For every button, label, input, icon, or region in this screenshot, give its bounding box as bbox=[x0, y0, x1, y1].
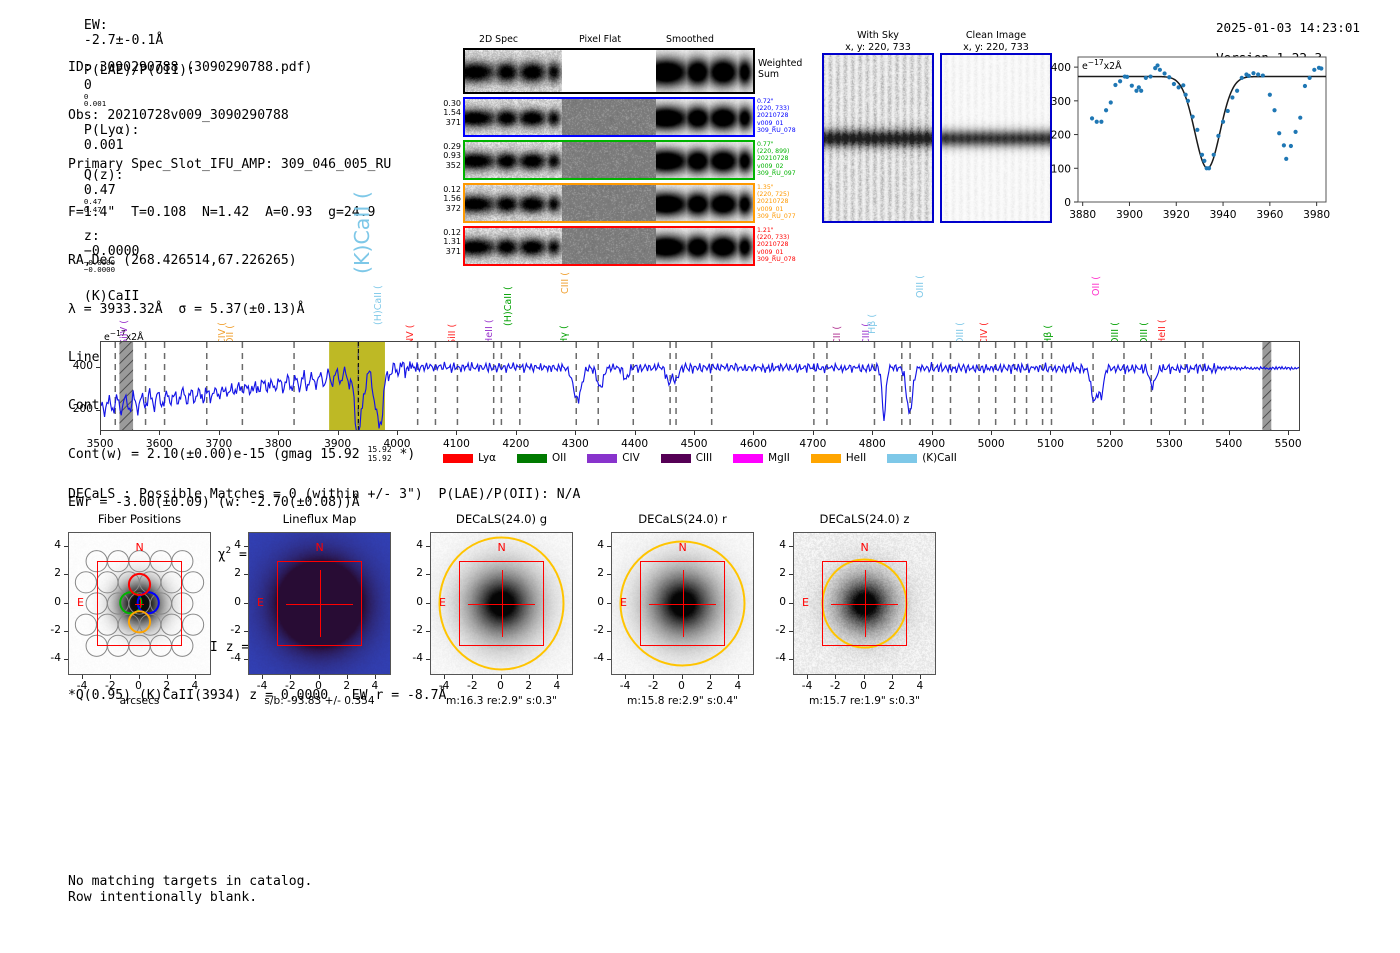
decals-header: DECaLS : Possible Matches = 0 (within +/… bbox=[68, 487, 580, 502]
legend-label: CIV bbox=[622, 452, 639, 464]
panel-xtick-label: 2 bbox=[154, 680, 180, 692]
spectrum-xtick bbox=[1050, 431, 1051, 435]
spectrum-xtick bbox=[397, 431, 398, 435]
panel-ytick bbox=[64, 659, 68, 660]
panel-ytick-label: -4 bbox=[40, 652, 61, 664]
spectral-line-label: Hβ ( bbox=[1043, 287, 1054, 345]
spec2d-cell-smoothed bbox=[656, 228, 753, 264]
panel-ytick bbox=[607, 574, 611, 575]
panel-xtick-label: -4 bbox=[249, 680, 275, 692]
svg-text:3900: 3900 bbox=[1116, 209, 1143, 221]
info-id: ID: 3090290788 (3090290788.pdf) bbox=[68, 60, 446, 76]
panel-xtick bbox=[920, 675, 921, 679]
spectral-line-label: (H)CaII ( bbox=[373, 267, 384, 325]
legend-swatch bbox=[517, 454, 547, 463]
panel-ytick-label: 4 bbox=[40, 539, 61, 551]
spectrum-xtick-label: 5400 bbox=[1211, 438, 1247, 450]
spec2d-block: 2D Spec Pixel Flat Smoothed Weighted Sum… bbox=[463, 34, 755, 266]
spectrum-xtick-label: 5200 bbox=[1092, 438, 1128, 450]
spectrum-xtick-label: 4900 bbox=[914, 438, 950, 450]
legend-label: MgII bbox=[768, 452, 790, 464]
spectrum-legend: LyαOIICIVCIIIMgIIHeII(K)CaII bbox=[0, 452, 1400, 464]
spec2d-row-metrics: 0.121.56372 bbox=[421, 185, 461, 213]
spectral-line-label: Hβ ( bbox=[867, 276, 878, 334]
panel-xtick-label: 0 bbox=[851, 680, 877, 692]
weighted-sum-label: Weighted Sum bbox=[758, 58, 802, 80]
spectrum-xtick bbox=[1169, 431, 1170, 435]
panel-xtick bbox=[139, 675, 140, 679]
panel-ytick bbox=[64, 546, 68, 547]
north-marker: N bbox=[136, 541, 144, 554]
svg-text:3920: 3920 bbox=[1163, 209, 1190, 221]
crosshair-horizontal bbox=[831, 604, 899, 605]
panel-xtick-label: -4 bbox=[794, 680, 820, 692]
panel-ytick bbox=[64, 603, 68, 604]
with-sky-title: With Sky bbox=[822, 30, 934, 42]
panel-xtick-label: 2 bbox=[516, 680, 542, 692]
crosshair-horizontal bbox=[649, 604, 717, 605]
with-sky-coords: x, y: 220, 733 bbox=[822, 42, 934, 54]
panel-ytick bbox=[244, 574, 248, 575]
spectrum-xtick bbox=[278, 431, 279, 435]
panel-xtick bbox=[892, 675, 893, 679]
panel-ytick-label: -2 bbox=[220, 624, 241, 636]
spectrum-xtick bbox=[456, 431, 457, 435]
panel-xtick-label: 4 bbox=[362, 680, 388, 692]
info-obs: Obs: 20210728v009_3090290788 bbox=[68, 108, 446, 124]
spectrum-xtick bbox=[932, 431, 933, 435]
spectrum-xtick bbox=[753, 431, 754, 435]
spectrum-xtick-label: 5500 bbox=[1270, 438, 1306, 450]
panel-ytick-label: 2 bbox=[220, 567, 241, 579]
spec2d-row-meta: 1.21"(220, 733)20210728v009_01309_RU_078 bbox=[757, 227, 813, 263]
panel-ytick bbox=[244, 659, 248, 660]
panel-ytick-label: 2 bbox=[583, 567, 604, 579]
bottom-note: No matching targets in catalog. Row inte… bbox=[68, 874, 312, 906]
svg-text:100: 100 bbox=[1051, 163, 1071, 175]
crosshair-horizontal bbox=[286, 604, 354, 605]
spec2d-cell-2d bbox=[465, 142, 562, 178]
legend-item: HeII bbox=[811, 452, 866, 464]
decals-panel-title: Lineflux Map bbox=[248, 512, 391, 526]
line-profile-chart: 3880390039203940396039801002003004000e−1… bbox=[1034, 47, 1334, 232]
decals-panel-title: Fiber Positions bbox=[68, 512, 211, 526]
panel-ytick bbox=[789, 659, 793, 660]
spec2d-row-metrics: 0.121.31371 bbox=[421, 228, 461, 256]
panel-ytick bbox=[426, 603, 430, 604]
spec2d-cell-flat bbox=[562, 142, 657, 178]
spec2d-cell-smoothed bbox=[656, 185, 753, 221]
panel-ytick bbox=[789, 631, 793, 632]
spectral-line-label: HeII ( bbox=[1157, 287, 1168, 345]
decals-panel: DECaLS(24.0) gNE-4-4-2-2002244m:16.3 re:… bbox=[430, 532, 573, 675]
panel-xtick-label: -4 bbox=[612, 680, 638, 692]
panel-ytick-label: 0 bbox=[220, 596, 241, 608]
panel-ytick bbox=[426, 546, 430, 547]
panel-xtick-label: 0 bbox=[126, 680, 152, 692]
spec2d-cell-flat bbox=[562, 50, 657, 92]
panel-ytick-label: -4 bbox=[583, 652, 604, 664]
spectrum-xtick bbox=[575, 431, 576, 435]
panel-ytick-label: -4 bbox=[765, 652, 786, 664]
svg-text:0: 0 bbox=[1064, 197, 1071, 209]
spectrum-ytick-label: 400 bbox=[62, 360, 93, 372]
decals-panel: DECaLS(24.0) rNE-4-4-2-2002244m:15.8 re:… bbox=[611, 532, 754, 675]
profile-unit-label: e−17x2Å bbox=[1082, 58, 1122, 72]
panel-ytick-label: 4 bbox=[765, 539, 786, 551]
spec2d-row-metrics: 0.301.54371 bbox=[421, 99, 461, 127]
legend-label: Lyα bbox=[478, 452, 496, 464]
svg-text:300: 300 bbox=[1051, 96, 1071, 108]
with-sky-panel: With Sky x, y: 220, 733 bbox=[822, 30, 934, 223]
panel-ytick-label: 2 bbox=[765, 567, 786, 579]
spectrum-xtick bbox=[694, 431, 695, 435]
legend-item: MgII bbox=[733, 452, 790, 464]
with-sky-image bbox=[822, 53, 934, 223]
legend-swatch bbox=[587, 454, 617, 463]
spectrum-xtick-label: 4700 bbox=[795, 438, 831, 450]
spec2d-cell-2d bbox=[465, 228, 562, 264]
panel-xtick bbox=[682, 675, 683, 679]
panel-ytick bbox=[607, 546, 611, 547]
spectrum-xtick bbox=[1110, 431, 1111, 435]
spectrum-xtick-label: 3500 bbox=[82, 438, 118, 450]
spectral-line-label: CII ( bbox=[832, 287, 843, 345]
spectrum-xtick-label: 4300 bbox=[557, 438, 593, 450]
panel-xtick bbox=[557, 675, 558, 679]
north-marker: N bbox=[498, 541, 506, 554]
spec2d-row-meta: 1.35"(220, 725)20210728v009_01309_RU_077 bbox=[757, 184, 813, 220]
spec2d-row-metrics: 0.290.93352 bbox=[421, 142, 461, 170]
spectrum-xtick-label: 3800 bbox=[260, 438, 296, 450]
panel-ytick bbox=[244, 546, 248, 547]
panel-xtick-label: 2 bbox=[879, 680, 905, 692]
panel-xtick-label: -2 bbox=[822, 680, 848, 692]
spectrum-xtick-label: 4400 bbox=[617, 438, 653, 450]
panel-ytick-label: -4 bbox=[220, 652, 241, 664]
spectrum-xtick bbox=[635, 431, 636, 435]
panel-xtick bbox=[110, 675, 111, 679]
spectrum-xtick-label: 4200 bbox=[498, 438, 534, 450]
decals-panel-image: NE bbox=[248, 532, 391, 675]
panel-xtick bbox=[625, 675, 626, 679]
east-marker: E bbox=[77, 596, 84, 609]
spectral-line-label: HeII ( bbox=[484, 287, 495, 345]
title-smoothed: Smoothed bbox=[666, 34, 714, 45]
svg-text:400: 400 bbox=[1051, 62, 1071, 74]
spectral-line-label: (K)CaII ( bbox=[350, 216, 374, 274]
decals-panel: DECaLS(24.0) zNE-4-4-2-2002244m:15.7 re:… bbox=[793, 532, 936, 675]
title-2d-spec: 2D Spec bbox=[479, 34, 518, 45]
panel-xtick-label: 4 bbox=[907, 680, 933, 692]
panel-xtick bbox=[864, 675, 865, 679]
info-slot: Primary Spec_Slot_IFU_AMP: 309_046_005_R… bbox=[68, 157, 446, 173]
panel-xtick bbox=[319, 675, 320, 679]
panel-ytick bbox=[64, 574, 68, 575]
panel-xtick-label: 0 bbox=[669, 680, 695, 692]
crosshair-horizontal bbox=[135, 604, 145, 605]
spectrum-xtick-label: 4600 bbox=[735, 438, 771, 450]
legend-item: CIII bbox=[661, 452, 712, 464]
svg-text:3940: 3940 bbox=[1210, 209, 1237, 221]
panel-ytick-label: -2 bbox=[583, 624, 604, 636]
svg-text:3980: 3980 bbox=[1303, 209, 1330, 221]
spectral-line-label: OIII ( bbox=[915, 240, 926, 298]
panel-ytick-label: 0 bbox=[402, 596, 423, 608]
spectrum-xtick bbox=[516, 431, 517, 435]
spectrum-xtick-label: 4500 bbox=[676, 438, 712, 450]
panel-xtick-label: -4 bbox=[69, 680, 95, 692]
spec2d-column-titles: 2D Spec Pixel Flat Smoothed bbox=[463, 34, 755, 48]
clean-image-title: Clean Image bbox=[940, 30, 1052, 42]
info-radec: RA,Dec (268.426514,67.226265) bbox=[68, 253, 446, 269]
spec2d-cell-2d bbox=[465, 50, 562, 92]
panel-xtick-label: -2 bbox=[459, 680, 485, 692]
crosshair-horizontal bbox=[468, 604, 536, 605]
spec2d-cell-flat bbox=[562, 185, 657, 221]
timestamp: 2025-01-03 14:23:01 bbox=[1216, 20, 1360, 35]
legend-swatch bbox=[887, 454, 917, 463]
panel-ytick bbox=[789, 603, 793, 604]
panel-xtick-label: 0 bbox=[488, 680, 514, 692]
legend-label: OII bbox=[552, 452, 566, 464]
spectral-line-label: Hγ ( bbox=[559, 287, 570, 345]
spec2d-cell-2d bbox=[465, 99, 562, 135]
panel-xtick bbox=[290, 675, 291, 679]
title-pixel-flat: Pixel Flat bbox=[579, 34, 621, 45]
spectrum-xtick-label: 4800 bbox=[854, 438, 890, 450]
spectral-line-label: SiII ( bbox=[447, 287, 458, 345]
panel-ytick bbox=[607, 631, 611, 632]
panel-ytick-label: -2 bbox=[40, 624, 61, 636]
spectrum-xtick-label: 5300 bbox=[1151, 438, 1187, 450]
decals-panel-caption: m:15.7 re:1.9" s:0.3" bbox=[750, 695, 979, 707]
north-marker: N bbox=[316, 541, 324, 554]
panel-ytick-label: 0 bbox=[765, 596, 786, 608]
decals-panel-title: DECaLS(24.0) z bbox=[793, 512, 936, 526]
panel-ytick bbox=[426, 574, 430, 575]
info-seeing: F=1.4" T=0.108 N=1.42 A=0.93 g=24.9 bbox=[68, 205, 446, 221]
spectrum-xtick bbox=[872, 431, 873, 435]
spectral-line-label: OII ( bbox=[1091, 238, 1102, 296]
spectral-line-label: OIII ( bbox=[1110, 287, 1121, 345]
panel-ytick bbox=[244, 631, 248, 632]
panel-xtick bbox=[167, 675, 168, 679]
spectral-line-label: (H)CaII ( bbox=[503, 268, 514, 326]
panel-ytick-label: 0 bbox=[40, 596, 61, 608]
spec2d-cell-2d bbox=[465, 185, 562, 221]
spec2d-row: 0.121.563721.35"(220, 725)20210728v009_0… bbox=[463, 183, 755, 223]
legend-item: (K)CaII bbox=[887, 452, 957, 464]
spectrum-xtick-label: 3900 bbox=[320, 438, 356, 450]
panel-ytick-label: 4 bbox=[402, 539, 423, 551]
spectrum-xtick bbox=[813, 431, 814, 435]
east-marker: E bbox=[439, 596, 446, 609]
spectrum-ytick bbox=[96, 367, 100, 368]
legend-item: CIV bbox=[587, 452, 639, 464]
panel-ytick-label: 2 bbox=[40, 567, 61, 579]
spectrum-ytick-label: 200 bbox=[62, 403, 93, 415]
panel-ytick bbox=[607, 659, 611, 660]
panel-xtick bbox=[195, 675, 196, 679]
spectral-line-label: SiIV ( bbox=[119, 287, 130, 345]
panel-xtick-label: 4 bbox=[182, 680, 208, 692]
panel-xtick bbox=[653, 675, 654, 679]
panel-ytick-label: 2 bbox=[402, 567, 423, 579]
spec2d-row-meta: 0.77"(220, 899)20210728v009_02309_RU_097 bbox=[757, 141, 813, 177]
legend-label: HeII bbox=[846, 452, 866, 464]
spectrum-xtick-label: 3600 bbox=[141, 438, 177, 450]
north-marker: N bbox=[861, 541, 869, 554]
spectrum-xtick bbox=[1288, 431, 1289, 435]
east-marker: E bbox=[257, 596, 264, 609]
panel-xtick bbox=[262, 675, 263, 679]
panel-xtick-label: -4 bbox=[431, 680, 457, 692]
legend-swatch bbox=[733, 454, 763, 463]
panel-xtick-label: -2 bbox=[97, 680, 123, 692]
decals-panel-title: DECaLS(24.0) r bbox=[611, 512, 754, 526]
svg-text:200: 200 bbox=[1051, 130, 1071, 142]
spectrum-xtick bbox=[219, 431, 220, 435]
spec2d-row: 0.290.933520.77"(220, 899)20210728v009_0… bbox=[463, 140, 755, 180]
spectral-line-label: CIII ( bbox=[560, 236, 571, 294]
panel-xtick-label: -2 bbox=[640, 680, 666, 692]
spec2d-cell-flat bbox=[562, 99, 657, 135]
spec2d-row: 0.121.313711.21"(220, 733)20210728v009_0… bbox=[463, 226, 755, 266]
panel-ytick bbox=[426, 631, 430, 632]
spectrum-xtick bbox=[100, 431, 101, 435]
decals-panel: Lineflux MapNE-4-4-2-2002244s/b: -93.83 … bbox=[248, 532, 391, 675]
panel-ytick-label: 0 bbox=[583, 596, 604, 608]
panel-ytick bbox=[789, 574, 793, 575]
decals-panel-image: NE bbox=[611, 532, 754, 675]
decals-panel-image: NE bbox=[68, 532, 211, 675]
panel-xtick-label: 4 bbox=[725, 680, 751, 692]
spectral-line-label: CIV ( bbox=[979, 287, 990, 345]
legend-item: OII bbox=[517, 452, 566, 464]
decals-panel-image: NE bbox=[793, 532, 936, 675]
spectral-line-label: OII ( bbox=[225, 287, 236, 345]
decals-panel-title: DECaLS(24.0) g bbox=[430, 512, 573, 526]
panel-xtick-label: 4 bbox=[544, 680, 570, 692]
panel-ytick-label: -2 bbox=[402, 624, 423, 636]
panel-xtick bbox=[807, 675, 808, 679]
north-marker: N bbox=[679, 541, 687, 554]
spectrum-xtick bbox=[159, 431, 160, 435]
panel-xtick bbox=[347, 675, 348, 679]
spectrum-xtick bbox=[991, 431, 992, 435]
east-marker: E bbox=[620, 596, 627, 609]
panel-xtick-label: -2 bbox=[277, 680, 303, 692]
panel-xtick-label: 2 bbox=[334, 680, 360, 692]
panel-xtick bbox=[835, 675, 836, 679]
legend-label: (K)CaII bbox=[922, 452, 957, 464]
spectrum-xtick bbox=[338, 431, 339, 435]
legend-item: Lyα bbox=[443, 452, 496, 464]
svg-text:3880: 3880 bbox=[1069, 209, 1096, 221]
panel-ytick-label: 4 bbox=[220, 539, 241, 551]
panel-ytick bbox=[244, 603, 248, 604]
spec2d-cell-smoothed bbox=[656, 50, 753, 92]
svg-text:3960: 3960 bbox=[1256, 209, 1283, 221]
spectrum-ytick bbox=[96, 410, 100, 411]
spectrum-xtick-label: 3700 bbox=[201, 438, 237, 450]
spectral-line-label: NV ( bbox=[405, 287, 416, 345]
spectrum-xtick-label: 4100 bbox=[438, 438, 474, 450]
spec2d-cell-smoothed bbox=[656, 142, 753, 178]
decals-panel-image: NE bbox=[430, 532, 573, 675]
panel-xtick bbox=[501, 675, 502, 679]
panel-xtick bbox=[444, 675, 445, 679]
legend-swatch bbox=[661, 454, 691, 463]
spectrum-xtick bbox=[1229, 431, 1230, 435]
full-spectrum-axes bbox=[100, 341, 1300, 431]
spec2d-row: 0.301.543710.72"(220, 733)20210728v009_0… bbox=[463, 97, 755, 137]
panel-xtick bbox=[472, 675, 473, 679]
spec2d-row: Weighted Sum bbox=[463, 48, 755, 94]
legend-swatch bbox=[443, 454, 473, 463]
panel-xtick bbox=[82, 675, 83, 679]
spectral-line-label: OIII ( bbox=[955, 287, 966, 345]
east-marker: E bbox=[802, 596, 809, 609]
panel-ytick-label: -2 bbox=[765, 624, 786, 636]
panel-xtick bbox=[375, 675, 376, 679]
legend-label: CIII bbox=[696, 452, 712, 464]
spec2d-cell-flat bbox=[562, 228, 657, 264]
panel-xtick-label: 2 bbox=[697, 680, 723, 692]
spectrum-xtick-label: 5100 bbox=[1032, 438, 1068, 450]
panel-xtick bbox=[529, 675, 530, 679]
panel-xtick-label: 0 bbox=[306, 680, 332, 692]
panel-ytick bbox=[64, 631, 68, 632]
panel-ytick-label: -4 bbox=[402, 652, 423, 664]
panel-ytick-label: 4 bbox=[583, 539, 604, 551]
spec2d-cell-smoothed bbox=[656, 99, 753, 135]
panel-xtick bbox=[710, 675, 711, 679]
spectral-line-label: OIII ( bbox=[1139, 287, 1150, 345]
spec2d-row-meta: 0.72"(220, 733)20210728v009_01309_RU_078 bbox=[757, 98, 813, 134]
legend-swatch bbox=[811, 454, 841, 463]
panel-xtick bbox=[738, 675, 739, 679]
decals-panel: Fiber PositionsNE-4-4-2-2002244arcsecs bbox=[68, 532, 211, 675]
spectrum-xtick-label: 5000 bbox=[973, 438, 1009, 450]
panel-ytick bbox=[607, 603, 611, 604]
panel-ytick bbox=[426, 659, 430, 660]
panel-ytick bbox=[789, 546, 793, 547]
spectrum-xtick-label: 4000 bbox=[379, 438, 415, 450]
